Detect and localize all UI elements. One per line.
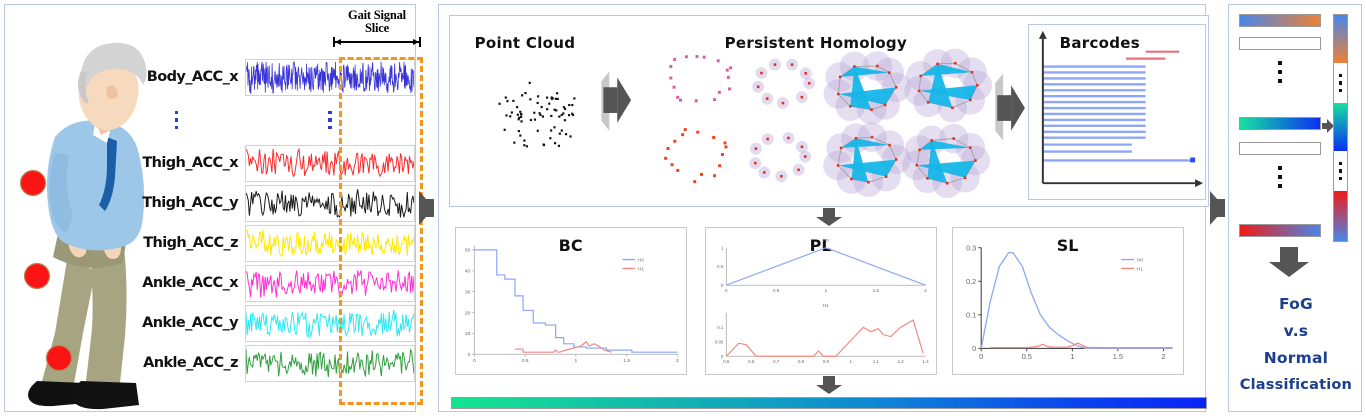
signal-label-ellipsis [115,111,245,130]
feature-bar-empty-bottom [1239,142,1321,155]
feature-bar-blue-orange [1239,14,1321,27]
stack-segment-blue-orange [1334,15,1347,63]
svg-text:0: 0 [473,358,476,364]
signal-label: Ankle_ACC_y [115,315,245,331]
svg-text:H0: H0 [1137,258,1143,263]
svg-text:1.2: 1.2 [897,359,904,364]
svg-text:H1: H1 [823,303,829,308]
stack-ellipsis-bottom [1334,151,1347,191]
verdict-line-3: Normal [1233,345,1359,372]
pipeline-figure: Gait Signal Slice Body_ACC_xThigh_ACC_xT… [0,0,1366,416]
barcode-plot [1029,25,1205,199]
feature-bar-empty-top [1239,37,1321,50]
svg-text:1.5: 1.5 [623,358,630,364]
signal-row: Body_ACC_x [115,57,423,97]
barcode-subpanel [1028,24,1206,200]
stack-ellipsis-top [1334,63,1347,103]
svg-text:0.05: 0.05 [715,339,724,344]
feature-embedding-bar-wrap [451,397,1207,409]
chart-pl: PL H000.511.5200.51H10.50.60.70.80.911.1… [705,227,937,375]
sensor-dot-ankle [47,346,72,371]
signal-label: Body_ACC_x [115,69,245,85]
gait-slice-header: Gait Signal Slice [331,9,423,48]
signal-plot-ellipsis [245,111,415,130]
signal-plot[interactable] [245,145,415,182]
svg-text:30: 30 [465,289,471,295]
signal-row: Thigh_ACC_z [115,223,423,263]
svg-text:0: 0 [972,344,976,353]
signal-label: Thigh_ACC_z [115,235,245,251]
svg-text:50: 50 [465,248,471,254]
signal-label: Thigh_ACC_y [115,195,245,211]
signal-row: Thigh_ACC_y [115,183,423,223]
chart-sl-plot: 00.511.5200.10.20.3H0H1 [953,228,1183,374]
svg-text:1.5: 1.5 [872,288,879,293]
chart-bc-plot: 00.511.5201020304050H0H1 [456,228,686,374]
feature-embedding-bar [451,397,1207,409]
sensor-dot-body [21,171,46,196]
arrow-pointcloud-to-split [601,71,631,130]
signal-plot[interactable] [245,345,415,382]
flow-arrow-mid-to-right [1206,0,1228,416]
svg-text:0.9: 0.9 [823,359,830,364]
svg-text:1.5: 1.5 [1112,352,1122,361]
signal-plot[interactable] [245,59,415,96]
verdict-line-1: FoG [1233,291,1359,318]
chart-pl-plot: H000.511.5200.51H10.50.60.70.80.911.11.2… [706,228,936,374]
arrow-charts-to-embedding [816,376,842,394]
gait-slice-label-line2: Slice [331,22,423,35]
svg-text:0.1: 0.1 [966,310,976,319]
signal-plot[interactable] [245,225,415,262]
stack-segment-red-blue [1334,191,1347,241]
topology-stage-box: Point Cloud Persistent Homology Barcodes [449,15,1209,207]
svg-text:0: 0 [467,352,470,358]
svg-text:1.1: 1.1 [872,359,879,364]
svg-text:0.6: 0.6 [748,359,755,364]
signal-row: Ankle_ACC_y [115,303,423,343]
sensor-signal-panel: Gait Signal Slice Body_ACC_xThigh_ACC_xT… [4,4,416,412]
svg-text:0.1: 0.1 [717,325,724,330]
feature-bar-green-blue [1239,117,1321,130]
signal-label: Ankle_ACC_z [115,355,245,371]
feature-bar-red-blue [1239,224,1321,237]
classification-verdict: FoG v.s Normal Classification [1233,291,1359,399]
signal-row: Ankle_ACC_x [115,263,423,303]
svg-text:H1: H1 [1137,267,1143,272]
svg-text:40: 40 [465,269,471,275]
signal-plot[interactable] [245,305,415,342]
svg-text:0.5: 0.5 [1021,352,1031,361]
sensor-dot-thigh [25,264,50,289]
signal-row: Thigh_ACC_x [115,143,423,183]
classification-panel: FoG v.s Normal Classification [1228,4,1362,412]
feature-vector-stack: FoG v.s Normal Classification [1233,9,1359,407]
svg-text:2: 2 [1161,352,1165,361]
signal-label: Ankle_ACC_x [115,275,245,291]
signal-row: Ankle_ACC_z [115,343,423,383]
chart-bc: BC 00.511.5201020304050H0H1 [455,227,687,375]
verdict-line-2: v.s [1233,318,1359,345]
signal-plot[interactable] [245,265,415,302]
gait-slice-span-arrow [331,36,423,48]
svg-text:0: 0 [720,283,723,288]
svg-text:0.2: 0.2 [966,277,976,286]
svg-text:20: 20 [465,310,471,316]
svg-text:1: 1 [824,288,827,293]
svg-text:0.5: 0.5 [723,359,730,364]
vertical-ellipsis-bottom [1239,166,1321,188]
vertical-ellipsis-top [1239,61,1321,83]
svg-text:H1: H1 [638,267,644,272]
svg-text:0.3: 0.3 [966,243,976,252]
svg-text:0.5: 0.5 [773,288,780,293]
svg-text:2: 2 [676,358,679,364]
svg-text:H0: H0 [823,238,829,243]
signal-row-list: Body_ACC_xThigh_ACC_xThigh_ACC_yThigh_AC… [115,57,423,383]
svg-text:0.7: 0.7 [773,359,780,364]
stack-segment-green-blue [1334,103,1347,151]
signal-label: Thigh_ACC_x [115,155,245,171]
arrow-stack-to-verdict [1269,247,1309,277]
svg-text:0: 0 [725,288,728,293]
svg-text:0: 0 [979,352,983,361]
chart-sl: SL 00.511.5200.10.20.3H0H1 [952,227,1184,375]
svg-text:1.3: 1.3 [922,359,929,364]
svg-text:0.8: 0.8 [798,359,805,364]
svg-text:1: 1 [1070,352,1074,361]
arrow-homology-to-barcodes [995,73,1025,140]
arrow-topology-to-charts [816,208,842,226]
svg-text:0.5: 0.5 [521,358,528,364]
svg-text:2: 2 [924,288,927,293]
svg-text:1: 1 [574,358,577,364]
svg-text:H0: H0 [638,258,644,263]
verdict-line-4: Classification [1233,372,1359,399]
svg-text:0.5: 0.5 [717,264,724,269]
signal-plot[interactable] [245,185,415,222]
topology-pipeline-panel: Point Cloud Persistent Homology Barcodes [438,4,1207,412]
svg-text:1: 1 [720,245,723,250]
svg-text:0: 0 [721,354,724,359]
stacked-feature-column [1333,14,1348,242]
svg-text:1: 1 [849,359,852,364]
signal-ellipsis-row [115,97,423,143]
svg-text:10: 10 [465,331,471,337]
